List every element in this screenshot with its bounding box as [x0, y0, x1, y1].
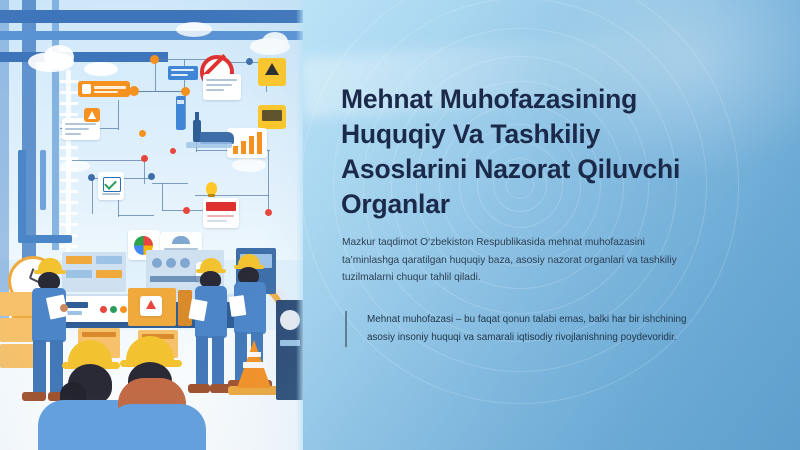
slide-title-line-2: Huquqiy Va Tashkiliy [341, 117, 741, 152]
slide-title-line-1: Mehnat Muhofazasining [341, 82, 741, 117]
paragraph-line-2: ta’minlashga qaratilgan huquqiy baza, as… [342, 252, 714, 270]
slide-title-line-4: Organlar [341, 187, 741, 222]
slide-illustration [0, 0, 303, 450]
paragraph-line-3: tuzilmalarni chuqur tahlil qiladi. [342, 269, 714, 287]
presentation-slide: Mehnat Muhofazasining Huquqiy Va Tashkil… [0, 0, 800, 450]
illustration-vignette [0, 0, 303, 450]
slide-title: Mehnat Muhofazasining Huquqiy Va Tashkil… [341, 82, 741, 222]
slide-quote-block: Mehnat muhofazasi – bu faqat qonun talab… [345, 311, 767, 347]
slide-title-line-3: Asoslarini Nazorat Qiluvchi [341, 152, 741, 187]
slide-text-content: Mehnat Muhofazasining Huquqiy Va Tashkil… [341, 0, 761, 450]
illustration-right-fade [296, 0, 303, 450]
slide-description-paragraph: Mazkur taqdimot O‘zbekiston Respublikasi… [342, 234, 714, 287]
quote-line-1: Mehnat muhofazasi – bu faqat qonun talab… [367, 311, 767, 329]
quote-line-2: asosiy insoniy huquqi va samarali iqtiso… [367, 329, 767, 347]
paragraph-line-1: Mazkur taqdimot O‘zbekiston Respublikasi… [342, 234, 714, 252]
